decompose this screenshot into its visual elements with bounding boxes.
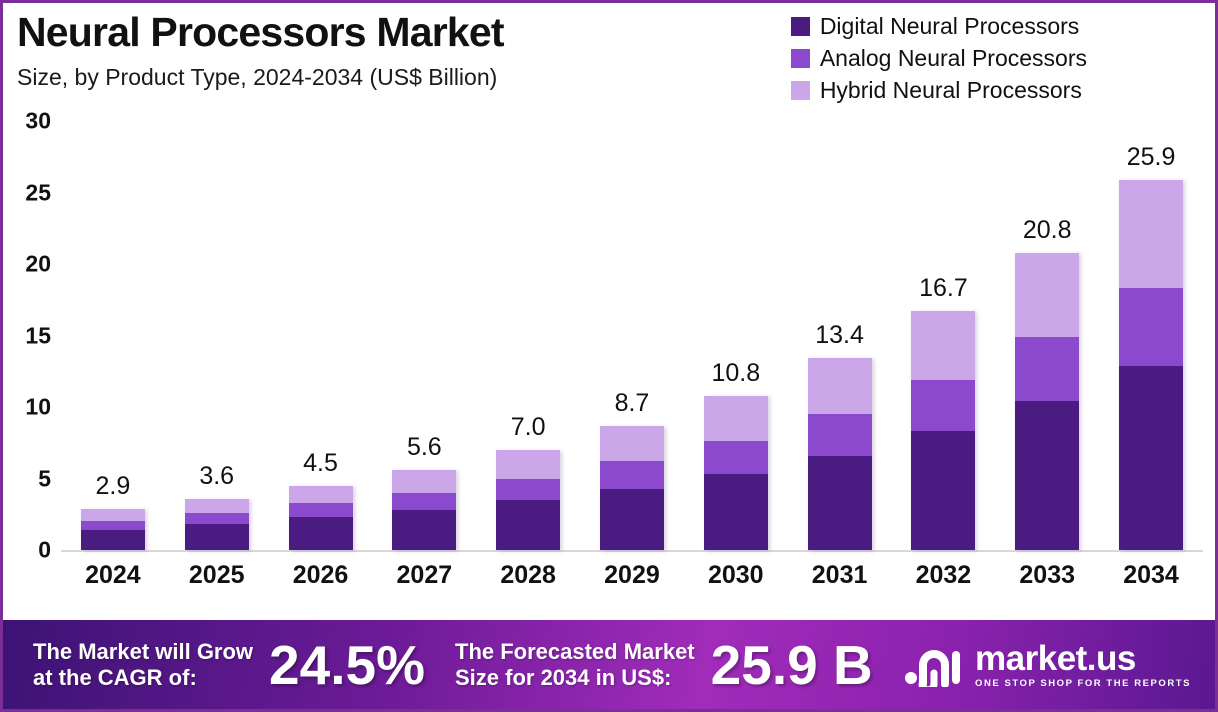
x-axis-tick: 2026 — [269, 561, 373, 590]
forecast-caption-line-1: The Forecasted Market — [455, 639, 695, 664]
bar-stack[interactable] — [1119, 180, 1183, 550]
bar-segment[interactable] — [1119, 366, 1183, 550]
y-axis-tick: 30 — [25, 108, 51, 135]
bar-segment[interactable] — [392, 510, 456, 550]
bar-segment[interactable] — [704, 474, 768, 550]
x-axis-tick: 2030 — [684, 561, 788, 590]
bar-stack[interactable] — [81, 509, 145, 550]
x-axis-baseline — [61, 550, 1203, 552]
bar-total-label: 5.6 — [372, 433, 476, 462]
bar-group[interactable]: 16.7 — [892, 121, 996, 550]
bar-segment[interactable] — [808, 456, 872, 550]
bar-segment[interactable] — [1119, 180, 1183, 289]
legend-item[interactable]: Digital Neural Processors — [791, 13, 1087, 40]
legend-item[interactable]: Hybrid Neural Processors — [791, 77, 1087, 104]
bar-stack[interactable] — [185, 499, 249, 550]
y-axis-tick: 25 — [25, 179, 51, 206]
bar-segment[interactable] — [496, 479, 560, 500]
bar-stack[interactable] — [1015, 253, 1079, 550]
bar-segment[interactable] — [392, 470, 456, 493]
bar-segment[interactable] — [704, 441, 768, 474]
bar-segment[interactable] — [600, 489, 664, 550]
bar-series-container: 2.93.64.55.67.08.710.813.416.720.825.9 — [61, 121, 1203, 550]
bar-segment[interactable] — [185, 524, 249, 550]
legend-swatch-icon — [791, 49, 810, 68]
bar-segment[interactable] — [1015, 337, 1079, 401]
x-axis-tick: 2034 — [1099, 561, 1203, 590]
bar-total-label: 10.8 — [684, 359, 788, 388]
forecast-value: 25.9 B — [711, 633, 873, 697]
bar-segment[interactable] — [289, 503, 353, 517]
bar-total-label: 3.6 — [165, 462, 269, 491]
bar-total-label: 20.8 — [995, 216, 1099, 245]
bar-stack[interactable] — [600, 426, 664, 550]
bar-segment[interactable] — [911, 380, 975, 431]
legend-swatch-icon — [791, 17, 810, 36]
bar-segment[interactable] — [600, 461, 664, 488]
bar-segment[interactable] — [1119, 288, 1183, 365]
logo-tagline: ONE STOP SHOP FOR THE REPORTS — [975, 679, 1191, 689]
bar-segment[interactable] — [185, 499, 249, 513]
page-title: Neural Processors Market — [17, 11, 737, 54]
bar-group[interactable]: 13.4 — [788, 121, 892, 550]
logo-mark-icon — [904, 643, 966, 687]
legend-label: Analog Neural Processors — [820, 45, 1087, 72]
chart-plot-area: 051015202530 2.93.64.55.67.08.710.813.41… — [3, 121, 1215, 621]
y-axis: 051015202530 — [3, 121, 59, 557]
x-axis-tick: 2024 — [61, 561, 165, 590]
bar-segment[interactable] — [81, 521, 145, 530]
bar-segment[interactable] — [392, 493, 456, 510]
bar-segment[interactable] — [600, 426, 664, 462]
bar-segment[interactable] — [911, 311, 975, 380]
y-axis-tick: 20 — [25, 251, 51, 278]
x-axis-tick: 2032 — [892, 561, 996, 590]
bar-stack[interactable] — [496, 450, 560, 550]
bar-segment[interactable] — [185, 513, 249, 524]
bar-total-label: 25.9 — [1099, 143, 1203, 172]
bar-group[interactable]: 8.7 — [580, 121, 684, 550]
bar-segment[interactable] — [704, 396, 768, 442]
bar-segment[interactable] — [289, 517, 353, 550]
legend-label: Digital Neural Processors — [820, 13, 1079, 40]
bar-total-label: 13.4 — [788, 321, 892, 350]
legend-swatch-icon — [791, 81, 810, 100]
chart-subtitle: Size, by Product Type, 2024-2034 (US$ Bi… — [17, 64, 737, 91]
bar-total-label: 16.7 — [892, 274, 996, 303]
bar-group[interactable]: 4.5 — [269, 121, 373, 550]
bar-segment[interactable] — [911, 431, 975, 550]
bar-group[interactable]: 5.6 — [372, 121, 476, 550]
bar-total-label: 4.5 — [269, 449, 373, 478]
legend-label: Hybrid Neural Processors — [820, 77, 1082, 104]
bar-group[interactable]: 20.8 — [995, 121, 1099, 550]
logo-name: market.us — [975, 641, 1191, 676]
bar-segment[interactable] — [808, 358, 872, 414]
bar-segment[interactable] — [1015, 253, 1079, 337]
x-axis: 2024202520262027202820292030203120322033… — [61, 561, 1203, 590]
chart-legend: Digital Neural ProcessorsAnalog Neural P… — [791, 13, 1087, 104]
cagr-value: 24.5% — [269, 633, 425, 697]
bar-segment[interactable] — [496, 450, 560, 479]
cagr-caption-line-1: The Market will Grow — [33, 639, 253, 664]
bar-group[interactable]: 25.9 — [1099, 121, 1203, 550]
x-axis-tick: 2027 — [372, 561, 476, 590]
x-axis-tick: 2025 — [165, 561, 269, 590]
bar-total-label: 2.9 — [61, 472, 165, 501]
legend-item[interactable]: Analog Neural Processors — [791, 45, 1087, 72]
y-axis-tick: 15 — [25, 322, 51, 349]
bar-segment[interactable] — [289, 486, 353, 503]
x-axis-tick: 2033 — [995, 561, 1099, 590]
chart-header: Neural Processors Market Size, by Produc… — [17, 11, 737, 91]
bar-total-label: 8.7 — [580, 389, 684, 418]
x-axis-tick: 2028 — [476, 561, 580, 590]
bar-segment[interactable] — [808, 414, 872, 455]
bar-total-label: 7.0 — [476, 413, 580, 442]
bar-segment[interactable] — [81, 530, 145, 550]
bar-group[interactable]: 3.6 — [165, 121, 269, 550]
x-axis-tick: 2029 — [580, 561, 684, 590]
y-axis-tick: 5 — [38, 465, 51, 492]
x-axis-tick: 2031 — [788, 561, 892, 590]
bar-stack[interactable] — [808, 358, 872, 550]
bar-stack[interactable] — [704, 396, 768, 550]
forecast-caption: The Forecasted Market Size for 2034 in U… — [455, 639, 695, 690]
bottom-stats-banner: The Market will Grow at the CAGR of: 24.… — [3, 620, 1215, 709]
bar-segment[interactable] — [496, 500, 560, 550]
y-axis-tick: 10 — [25, 394, 51, 421]
y-axis-tick: 0 — [38, 537, 51, 564]
bar-stack[interactable] — [289, 486, 353, 550]
bar-segment[interactable] — [1015, 401, 1079, 550]
cagr-caption-line-2: at the CAGR of: — [33, 665, 253, 690]
bar-stack[interactable] — [392, 470, 456, 550]
bar-group[interactable]: 2.9 — [61, 121, 165, 550]
forecast-caption-line-2: Size for 2034 in US$: — [455, 665, 695, 690]
bar-segment[interactable] — [81, 509, 145, 522]
bar-group[interactable]: 7.0 — [476, 121, 580, 550]
chart-page: Neural Processors Market Size, by Produc… — [0, 0, 1218, 712]
bar-stack[interactable] — [911, 311, 975, 550]
market-us-logo[interactable]: market.us ONE STOP SHOP FOR THE REPORTS — [904, 641, 1191, 689]
bar-group[interactable]: 10.8 — [684, 121, 788, 550]
cagr-caption: The Market will Grow at the CAGR of: — [33, 639, 253, 690]
